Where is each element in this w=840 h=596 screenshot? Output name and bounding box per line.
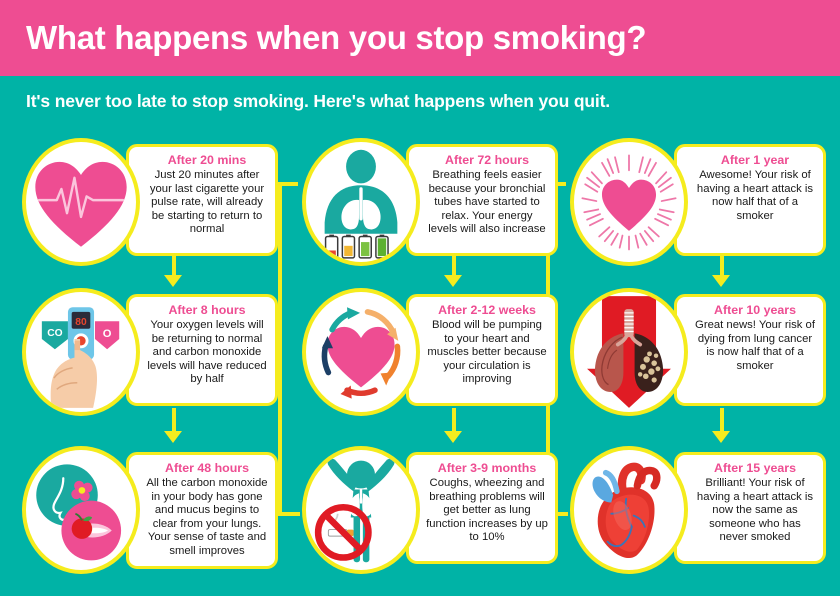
person-arms-up-no-smoking-icon: [302, 446, 420, 574]
card-description: Blood will be pumping to your heart and …: [426, 319, 548, 387]
connector-arrow-col2-r1-r2: [444, 275, 462, 287]
card-bubble: After 3-9 months Coughs, wheezing and br…: [406, 452, 558, 564]
card-bubble: After 8 hours Your oxygen levels will be…: [126, 294, 278, 406]
svg-text:CO: CO: [47, 328, 62, 339]
connector-arrow-col1-r1-r2: [164, 275, 182, 287]
card-description: Brilliant! Your risk of having a heart a…: [694, 477, 816, 545]
subtitle-band: It's never too late to stop smoking. Her…: [0, 76, 840, 126]
connector-col1-to-col2-v: [278, 182, 282, 516]
card-description: Breathing feels easier because your bron…: [426, 169, 548, 237]
anatomical-heart-icon: [570, 446, 688, 574]
infographic-page: What happens when you stop smoking? It's…: [0, 0, 840, 596]
heart-pulse-icon: [22, 138, 140, 266]
page-title: What happens when you stop smoking?: [0, 19, 646, 57]
card-description: Awesome! Your risk of having a heart att…: [694, 169, 816, 223]
person-lungs-batteries-icon: [302, 138, 420, 266]
card-bubble: After 1 year Awesome! Your risk of havin…: [674, 144, 826, 256]
connector-arrow-col3-r1-r2: [712, 275, 730, 287]
card-after-20-mins: After 20 mins Just 20 minutes after your…: [14, 134, 282, 272]
card-after-2-12-weeks: After 2-12 weeks Blood will be pumping t…: [294, 284, 562, 422]
card-bubble: After 72 hours Breathing feels easier be…: [406, 144, 558, 256]
card-after-48-hours: After 48 hours All the carbon monoxide i…: [14, 442, 282, 580]
card-after-3-9-months: After 3-9 months Coughs, wheezing and br…: [294, 442, 562, 580]
svg-text:80: 80: [75, 317, 87, 328]
lungs-down-arrow-icon: [570, 288, 688, 416]
connector-arrow-col2-r2-r3: [444, 431, 462, 443]
card-time-label: After 10 years: [694, 303, 816, 318]
card-time-label: After 8 hours: [146, 303, 268, 318]
connector-arrow-col3-r2-r3: [712, 431, 730, 443]
card-bubble: After 2-12 weeks Blood will be pumping t…: [406, 294, 558, 406]
card-after-1-year: After 1 year Awesome! Your risk of havin…: [562, 134, 830, 272]
connector-arrow-col1-r2-r3: [164, 431, 182, 443]
page-subtitle: It's never too late to stop smoking. Her…: [0, 91, 610, 112]
card-bubble: After 15 years Brilliant! Your risk of h…: [674, 452, 826, 564]
heart-circulation-arrows-icon: [302, 288, 420, 416]
card-time-label: After 15 years: [694, 461, 816, 476]
card-after-15-years: After 15 years Brilliant! Your risk of h…: [562, 442, 830, 580]
card-bubble: After 20 mins Just 20 minutes after your…: [126, 144, 278, 256]
card-description: All the carbon monoxide in your body has…: [146, 477, 268, 559]
card-after-8-hours: CO O 80 After 8 h: [14, 284, 282, 422]
svg-text:O: O: [103, 328, 112, 340]
card-time-label: After 3-9 months: [426, 461, 548, 476]
card-description: Coughs, wheezing and breathing problems …: [426, 477, 548, 545]
header-band: What happens when you stop smoking?: [0, 0, 840, 76]
card-time-label: After 1 year: [694, 153, 816, 168]
card-bubble: After 10 years Great news! Your risk of …: [674, 294, 826, 406]
card-time-label: After 2-12 weeks: [426, 303, 548, 318]
card-after-72-hours: After 72 hours Breathing feels easier be…: [294, 134, 562, 272]
connector-col1-to-col2-h-top: [278, 182, 298, 186]
card-time-label: After 72 hours: [426, 153, 548, 168]
card-time-label: After 20 mins: [146, 153, 268, 168]
card-description: Your oxygen levels will be returning to …: [146, 319, 268, 387]
cards-grid: After 20 mins Just 20 minutes after your…: [0, 126, 840, 596]
heart-sunburst-icon: [570, 138, 688, 266]
card-bubble: After 48 hours All the carbon monoxide i…: [126, 452, 278, 569]
card-description: Great news! Your risk of dying from lung…: [694, 319, 816, 373]
card-after-10-years: After 10 years Great news! Your risk of …: [562, 284, 830, 422]
card-description: Just 20 minutes after your last cigarett…: [146, 169, 268, 237]
card-time-label: After 48 hours: [146, 461, 268, 476]
nose-flower-mouth-apple-icon: [22, 446, 140, 574]
pulse-oximeter-finger-icon: CO O 80: [22, 288, 140, 416]
